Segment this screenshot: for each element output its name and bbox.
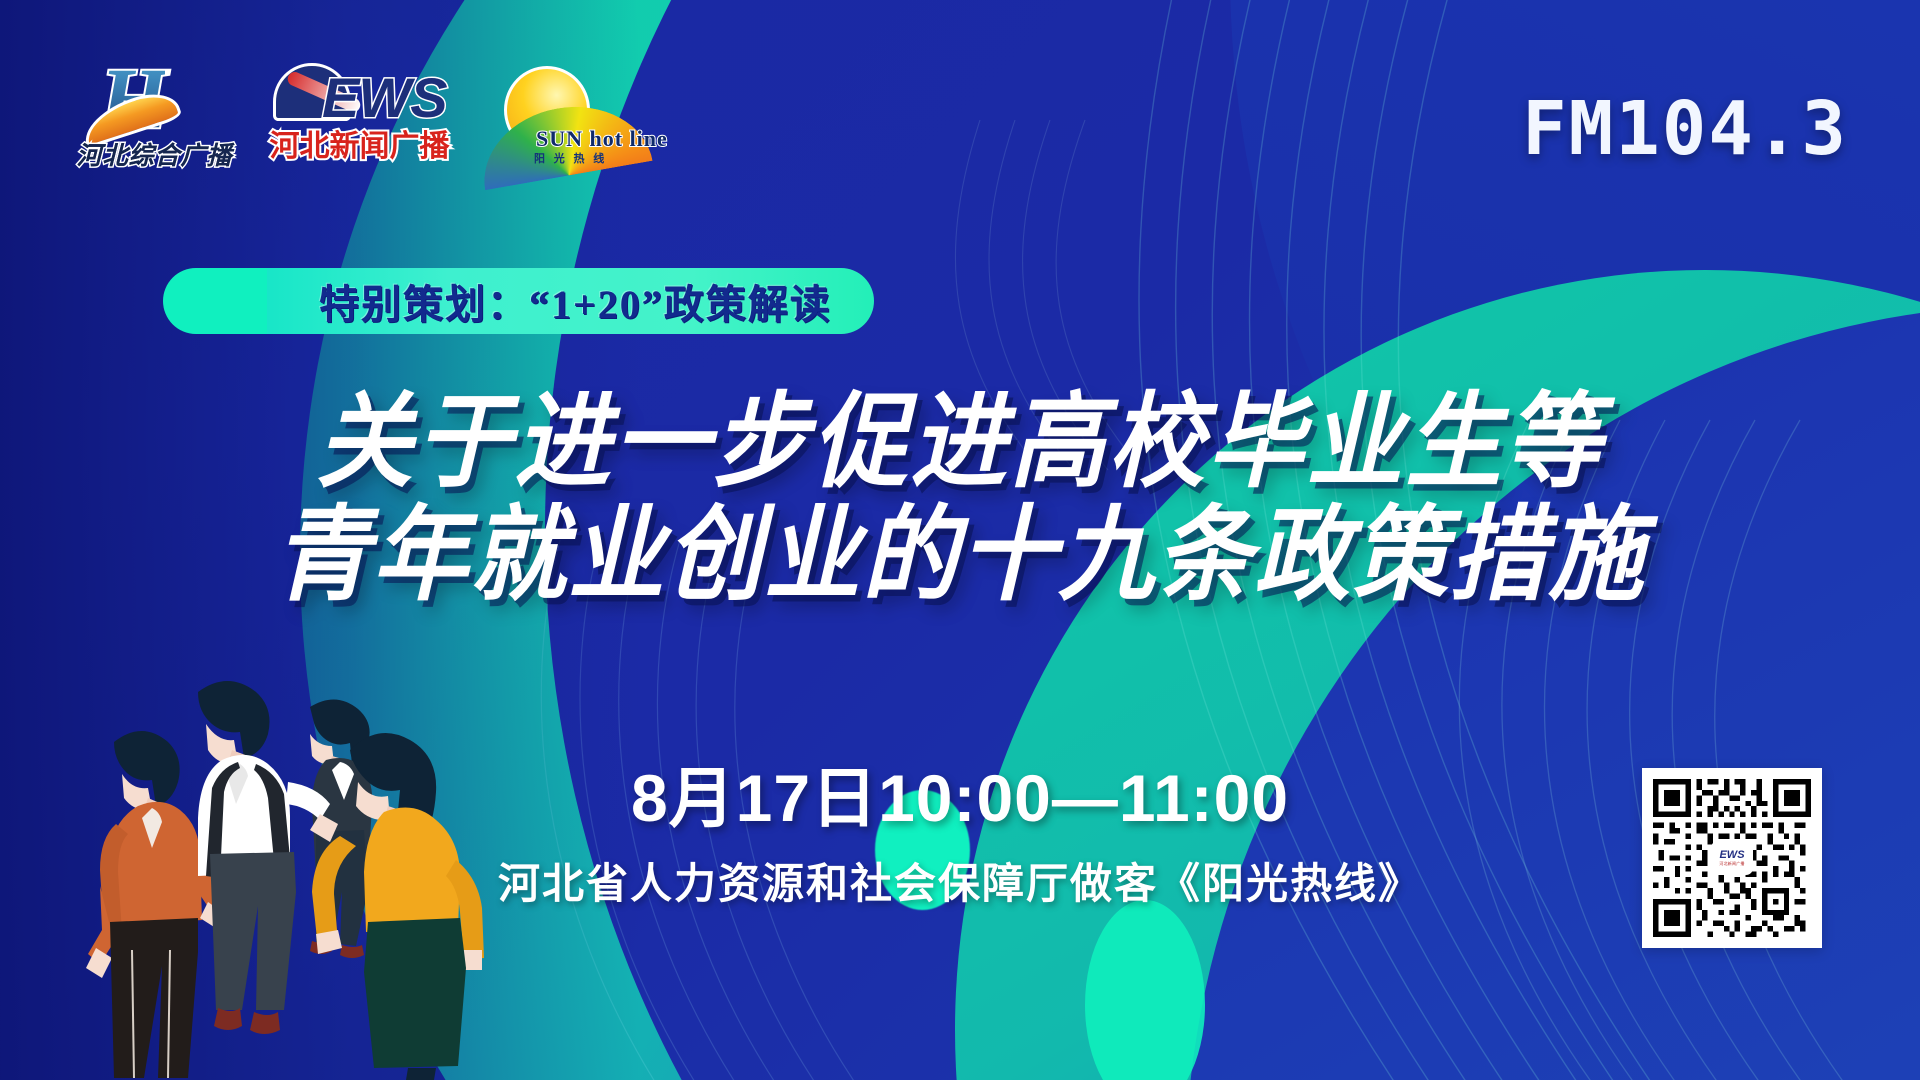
sun-hotline-logo: SUN hot line SUN hot line 阳 光 热 线 — [482, 62, 682, 174]
title-line-1: 关于进一步促进高校毕业生等 — [0, 381, 1920, 503]
station-logo-group: H H 河北综合广播 河北综合广播 EWS EWS 河北新闻广播 河北新闻广播 … — [72, 46, 682, 174]
badge-label: 特别策划：“1+20”政策解读 — [319, 272, 832, 330]
page-title: 关于进一步促进高校毕业生等 青年就业创业的十九条政策措施 — [0, 386, 1920, 613]
special-program-badge: 特别策划：“1+20”政策解读 — [163, 268, 874, 334]
broadcast-subtitle: 河北省人力资源和社会保障厅做客《阳光热线》 — [0, 850, 1920, 911]
broadcast-datetime: 8月17日10:00—11:00 — [0, 745, 1920, 841]
qr-center-logo-text: EWS — [1719, 850, 1744, 861]
badge-body: 特别策划：“1+20”政策解读 — [267, 268, 874, 334]
title-line-2: 青年就业创业的十九条政策措施 — [0, 495, 1920, 617]
hebei-news-radio-logo: EWS EWS 河北新闻广播 河北新闻广播 — [267, 59, 452, 174]
qr-center-logo-sub: 河北新闻广播 — [1719, 862, 1744, 867]
hebei-news-name: 河北新闻广播 — [267, 121, 452, 165]
station-frequency: FM104.3 — [1522, 86, 1848, 172]
qr-code-cells: EWS 河北新闻广播 — [1653, 779, 1811, 937]
sun-hotline-name-cn: 阳 光 热 线 — [534, 150, 607, 166]
sun-hotline-name-en: SUN hot line — [536, 126, 668, 152]
qr-center-logo: EWS 河北新闻广播 — [1713, 843, 1751, 873]
hebei-comprehensive-name: 河北综合广播 — [72, 136, 237, 172]
qr-code-icon[interactable]: EWS 河北新闻广播 — [1642, 768, 1822, 948]
badge-left-cap — [163, 268, 267, 334]
hebei-comprehensive-radio-logo: H H 河北综合广播 河北综合广播 — [72, 46, 237, 174]
poster-canvas: H H 河北综合广播 河北综合广播 EWS EWS 河北新闻广播 河北新闻广播 … — [0, 0, 1920, 1080]
